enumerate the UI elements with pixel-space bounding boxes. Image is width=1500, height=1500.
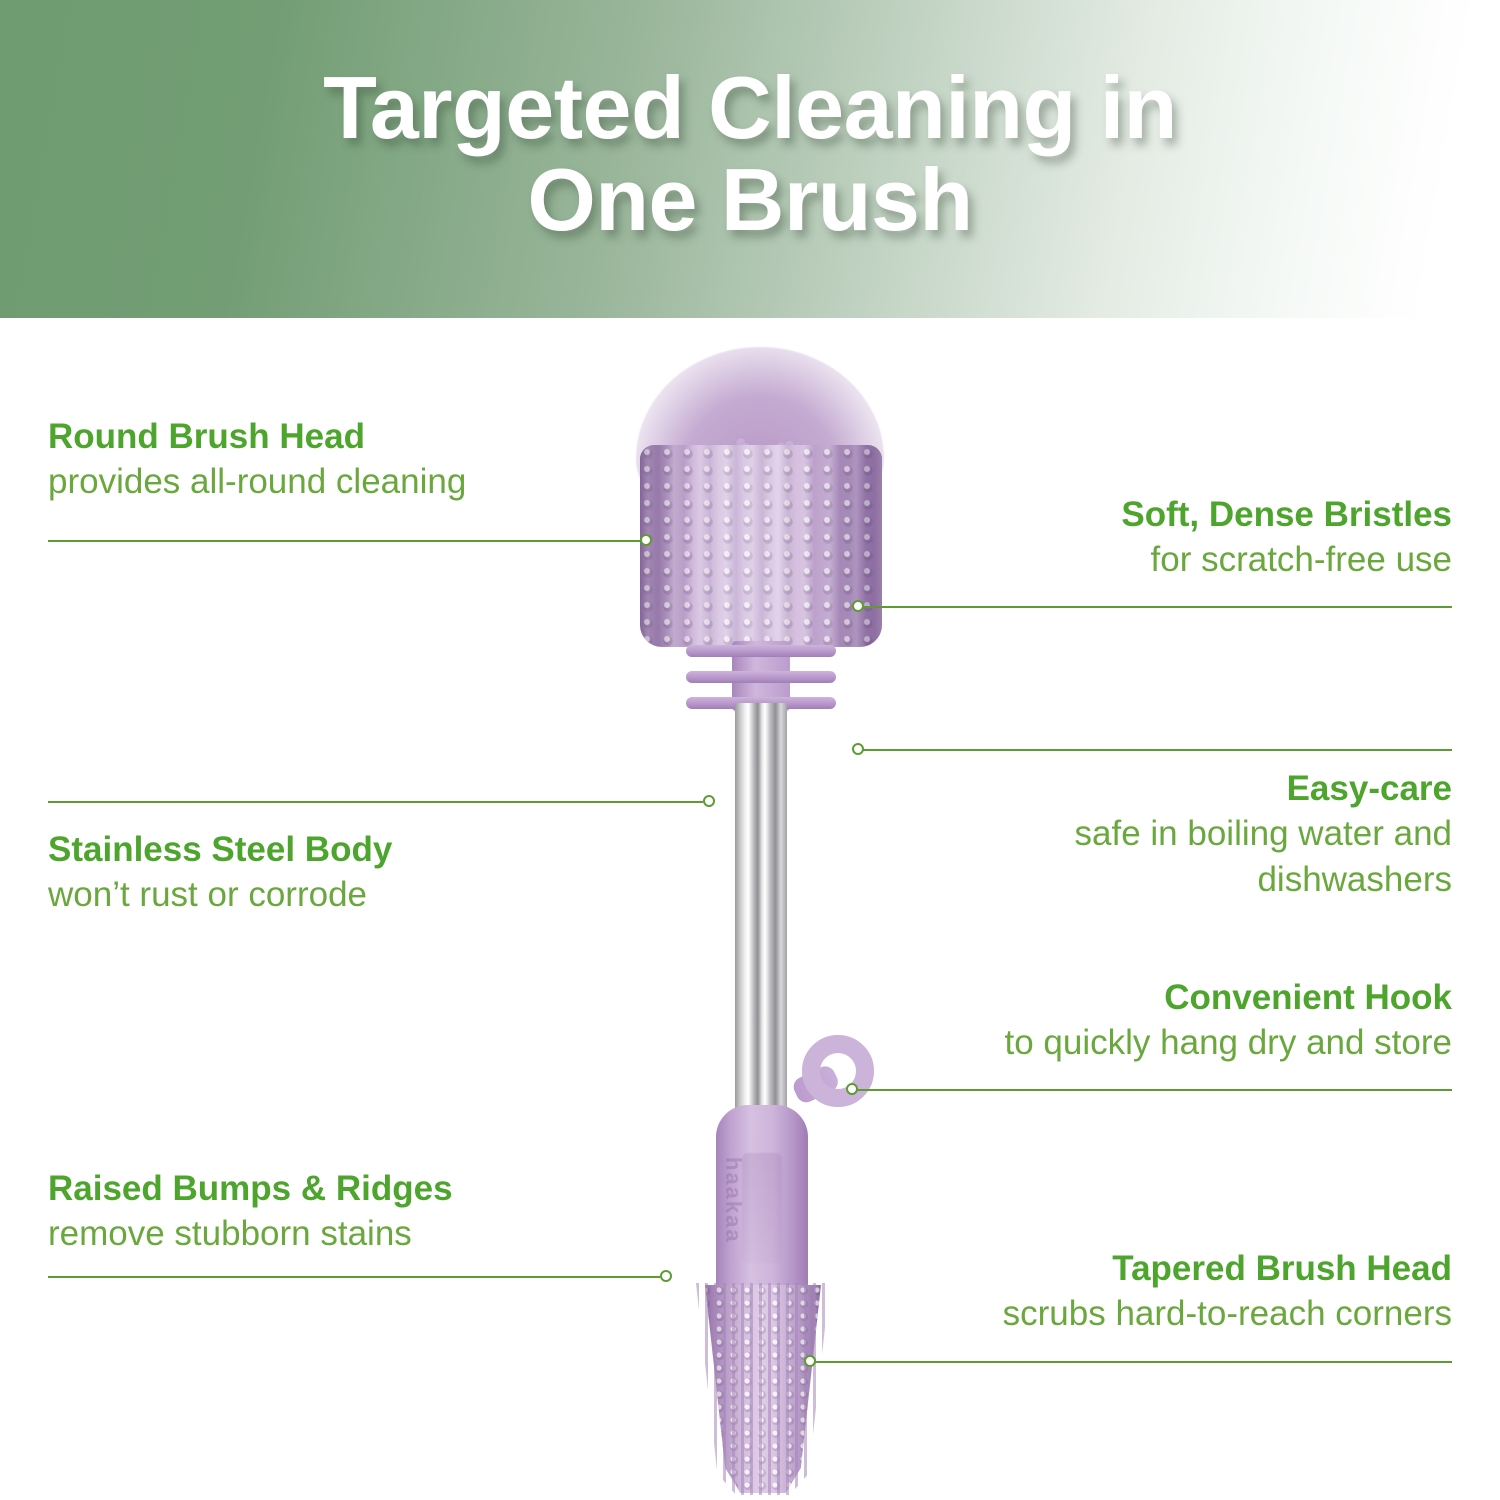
leader-bar — [48, 801, 703, 803]
leader-line-soft-dense-bristles — [852, 600, 1452, 614]
callout-title: Tapered Brush Head — [820, 1246, 1452, 1291]
callout-subtitle: won’t rust or corrode — [48, 872, 688, 918]
leader-bar — [48, 540, 640, 542]
leader-line-raised-bumps-ridges — [48, 1270, 674, 1284]
callout-title: Easy-care — [840, 766, 1452, 811]
leader-bar — [862, 606, 1452, 608]
leader-line-tapered-brush-head — [804, 1355, 1452, 1369]
callout-easy-care: Easy-care safe in boiling water and dish… — [840, 766, 1452, 903]
leader-bar — [856, 1089, 1452, 1091]
silicone-handle: haakaa — [716, 1105, 808, 1305]
leader-line-stainless-steel-body — [48, 795, 716, 809]
callout-subtitle-line-2: dishwashers — [840, 857, 1452, 903]
callout-convenient-hook: Convenient Hook to quickly hang dry and … — [840, 975, 1452, 1066]
title-line-2: One Brush — [0, 154, 1500, 246]
leader-line-convenient-hook — [846, 1083, 1452, 1097]
title-line-1: Targeted Cleaning in — [323, 58, 1177, 157]
callout-title: Raised Bumps & Ridges — [48, 1166, 708, 1211]
page-title: Targeted Cleaning in One Brush — [0, 62, 1500, 246]
brand-emboss: haakaa — [720, 1157, 746, 1244]
infographic-page: Targeted Cleaning in One Brush haakaa — [0, 0, 1500, 1500]
collar-flange-top — [686, 645, 836, 657]
tapered-brush-head-graphic — [700, 1285, 826, 1493]
callout-raised-bumps-ridges: Raised Bumps & Ridges remove stubborn st… — [48, 1166, 708, 1257]
callout-title: Round Brush Head — [48, 414, 668, 459]
callout-title: Convenient Hook — [840, 975, 1452, 1020]
callout-stainless-steel-body: Stainless Steel Body won’t rust or corro… — [48, 827, 688, 918]
leader-endpoint-dot — [703, 795, 715, 807]
brush-head-collar — [686, 641, 836, 711]
leader-line-round-brush-head — [48, 534, 654, 548]
leader-bar — [814, 1361, 1452, 1363]
callout-subtitle: to quickly hang dry and store — [840, 1020, 1452, 1066]
leader-bar — [48, 1276, 660, 1278]
callout-title: Stainless Steel Body — [48, 827, 688, 872]
leader-endpoint-dot — [660, 1270, 672, 1282]
callout-soft-dense-bristles: Soft, Dense Bristles for scratch-free us… — [840, 492, 1452, 583]
leader-endpoint-dot — [640, 534, 652, 546]
leader-line-easy-care — [852, 743, 1452, 757]
header-banner: Targeted Cleaning in One Brush — [0, 0, 1500, 318]
callout-subtitle: provides all-round cleaning — [48, 459, 668, 505]
callout-subtitle: for scratch-free use — [840, 537, 1452, 583]
leader-bar — [862, 749, 1452, 751]
callout-round-brush-head: Round Brush Head provides all-round clea… — [48, 414, 668, 505]
callout-subtitle-line-1: safe in boiling water and — [840, 811, 1452, 857]
callout-title: Soft, Dense Bristles — [840, 492, 1452, 537]
callout-tapered-brush-head: Tapered Brush Head scrubs hard-to-reach … — [820, 1246, 1452, 1337]
callout-subtitle: remove stubborn stains — [48, 1211, 708, 1257]
stainless-steel-shaft — [735, 703, 787, 1123]
callout-subtitle: scrubs hard-to-reach corners — [820, 1291, 1452, 1337]
collar-flange-middle — [686, 671, 836, 683]
